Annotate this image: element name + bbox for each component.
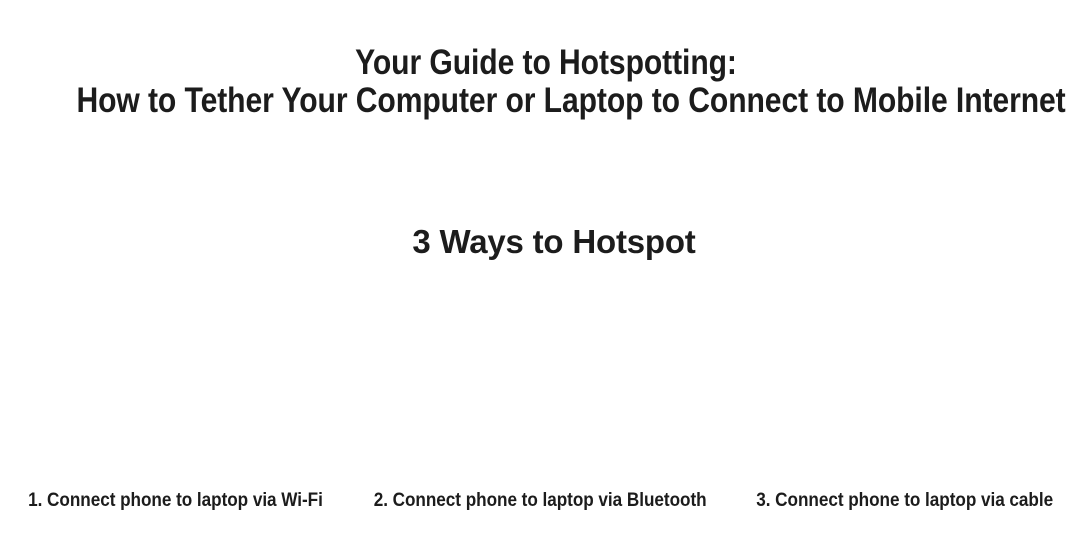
- method-caption-3: 3. Connect phone to laptop via cable: [729, 488, 1080, 512]
- bluetooth-illustration-image: [360, 276, 720, 476]
- method-caption-1: 1. Connect phone to laptop via Wi-Fi: [0, 488, 351, 512]
- page-title: Your Guide to Hotspotting: How to Tether…: [0, 44, 1080, 120]
- page-title-line-2: How to Tether Your Computer or Laptop to…: [76, 82, 1015, 120]
- method-image-slot-3: [720, 276, 1080, 476]
- method-illustrations: [0, 276, 1080, 476]
- section-heading: 3 Ways to Hotspot: [0, 222, 1080, 262]
- method-caption-1-text: 1. Connect phone to laptop via Wi-Fi: [28, 488, 323, 512]
- method-caption-3-text: 3. Connect phone to laptop via cable: [756, 488, 1053, 512]
- method-caption-2-text: 2. Connect phone to laptop via Bluetooth: [374, 488, 707, 512]
- cable-illustration-image: [720, 276, 1080, 476]
- method-captions: 1. Connect phone to laptop via Wi-Fi 2. …: [0, 488, 1080, 512]
- article-page: Your Guide to Hotspotting: How to Tether…: [0, 0, 1080, 552]
- method-image-slot-1: [0, 276, 360, 476]
- method-image-slot-2: [360, 276, 720, 476]
- wifi-illustration-image: [0, 276, 360, 476]
- page-title-line-1: Your Guide to Hotspotting:: [76, 44, 1015, 82]
- method-caption-2: 2. Connect phone to laptop via Bluetooth: [351, 488, 729, 512]
